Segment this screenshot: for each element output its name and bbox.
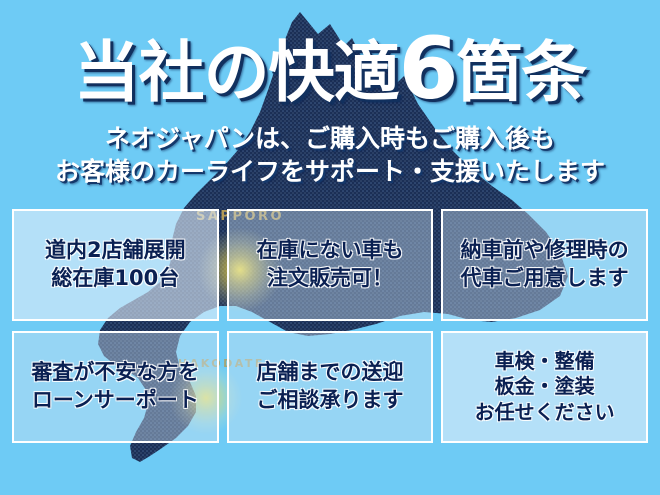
feature-inspection-bodywork-text: 車検・整備 板金・塗装 お任せください — [475, 349, 615, 426]
feature-line: 車検・整備 — [475, 349, 615, 375]
headline-block: 当社の快適6箇条 ネオジャパンは、ご購入時もご購入後も お客様のカーライフをサポ… — [0, 0, 660, 188]
page-title: 当社の快適6箇条 — [0, 0, 660, 112]
feature-line: 審査が不安な方を — [31, 359, 199, 387]
feature-line: ローンサーポート — [31, 387, 199, 415]
feature-pickup-service-text: 店舗までの送迎 ご相談承ります — [256, 359, 403, 414]
title-suffix: 箇条 — [456, 34, 586, 111]
title-number: 6 — [399, 19, 457, 119]
feature-line: 総在庫100台 — [45, 265, 186, 293]
feature-stores-text: 道内2店舗展開 総在庫100台 — [45, 237, 186, 292]
feature-line: 注文販売可！ — [256, 265, 403, 293]
feature-grid: 道内2店舗展開 総在庫100台 在庫にない車も 注文販売可！ 納車前や修理時の … — [12, 209, 648, 443]
feature-line: 板金・塗装 — [475, 374, 615, 400]
feature-line: 代車ご用意します — [461, 265, 629, 293]
advertisement-banner: SAPPORO HAKODATE 当社の快適6箇条 ネオジャパンは、ご購入時もご… — [0, 0, 660, 495]
subtitle-line-2: お客様のカーライフをサポート・支援いたします — [0, 156, 660, 189]
subtitle: ネオジャパンは、ご購入時もご購入後も お客様のカーライフをサポート・支援いたしま… — [0, 112, 660, 188]
feature-order-sales-text: 在庫にない車も 注文販売可！ — [256, 237, 403, 292]
title-prefix: 当社の快適 — [74, 34, 399, 111]
feature-line: 在庫にない車も — [256, 237, 403, 265]
feature-line: 納車前や修理時の — [461, 237, 629, 265]
feature-pickup-service: 店舗までの送迎 ご相談承ります — [227, 331, 434, 443]
feature-loaner-car-text: 納車前や修理時の 代車ご用意します — [461, 237, 629, 292]
feature-loan-support: 審査が不安な方を ローンサーポート — [12, 331, 219, 443]
feature-loan-support-text: 審査が不安な方を ローンサーポート — [31, 359, 199, 414]
feature-order-sales: 在庫にない車も 注文販売可！ — [227, 209, 434, 321]
feature-line: 店舗までの送迎 — [256, 359, 403, 387]
subtitle-line-1: ネオジャパンは、ご購入時もご購入後も — [0, 123, 660, 156]
feature-stores: 道内2店舗展開 総在庫100台 — [12, 209, 219, 321]
feature-line: ご相談承ります — [256, 387, 403, 415]
feature-inspection-bodywork: 車検・整備 板金・塗装 お任せください — [441, 331, 648, 443]
feature-line: 道内2店舗展開 — [45, 237, 186, 265]
feature-loaner-car: 納車前や修理時の 代車ご用意します — [441, 209, 648, 321]
feature-line: お任せください — [475, 400, 615, 426]
